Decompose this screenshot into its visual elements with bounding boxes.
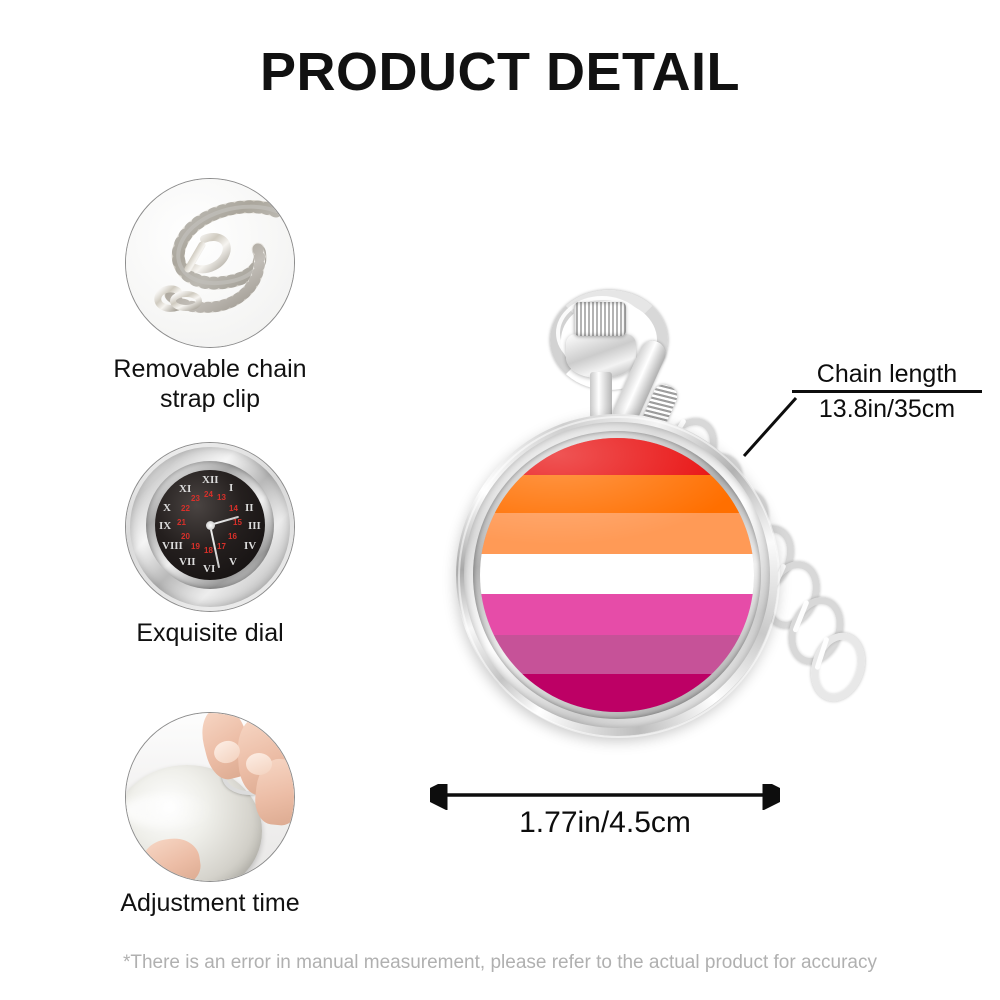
dial-numeral-ii: II — [245, 502, 254, 514]
dial-numeral-viii: VIII — [162, 540, 183, 552]
crown-knurl — [574, 302, 626, 336]
chain-length-leader-line — [742, 396, 798, 458]
chain-with-clip-icon — [126, 179, 294, 347]
dial-24h-23: 23 — [191, 494, 200, 503]
dial-numeral-xi: XI — [179, 483, 191, 495]
flag-stripe-dusty-pink — [480, 635, 754, 673]
dial-numeral-iii: III — [248, 520, 261, 532]
dial-24h-21: 21 — [177, 518, 186, 527]
hands-pin — [206, 521, 215, 530]
flag-stripe-pink — [480, 594, 754, 635]
dial-numeral-vi: VI — [203, 563, 215, 575]
measurement-disclaimer: *There is an error in manual measurement… — [0, 952, 1000, 974]
feature-adjustment-time: Adjustment time — [60, 712, 360, 918]
dial-24h-16: 16 — [228, 532, 237, 541]
dial-face: XII I II III IV V VI VII VIII IX X XI 13… — [155, 470, 265, 580]
flag-stripe-white — [480, 554, 754, 594]
dial-numeral-iv: IV — [244, 540, 256, 552]
hand-adjusting-crown-thumbnail — [125, 712, 295, 882]
watch-case — [456, 414, 778, 736]
chain-length-title: Chain length — [792, 360, 982, 389]
product-detail-page: PRODUCT DETAIL — [0, 0, 1000, 1000]
callout-chain-length: Chain length 13.8in/35cm — [792, 360, 982, 424]
dial-numeral-i: I — [229, 482, 233, 494]
feature-exquisite-dial: XII I II III IV V VI VII VIII IX X XI 13… — [60, 442, 360, 648]
dial-24h-15: 15 — [233, 518, 242, 527]
dial-24h-17: 17 — [217, 542, 226, 551]
chain-length-value: 13.8in/35cm — [792, 395, 982, 424]
dimension-diameter: 1.77in/4.5cm — [430, 778, 780, 852]
page-title: PRODUCT DETAIL — [0, 44, 1000, 101]
dial-numeral-vii: VII — [179, 556, 196, 568]
dial-24h-14: 14 — [229, 504, 238, 513]
dial-numeral-x: X — [163, 502, 171, 514]
diameter-value: 1.77in/4.5cm — [430, 806, 780, 840]
flag-stripe-orange — [480, 475, 754, 513]
product-image-pocket-watch — [430, 280, 990, 780]
watch-dial-thumbnail: XII I II III IV V VI VII VIII IX X XI 13… — [125, 442, 295, 612]
lesbian-pride-flag-face — [480, 438, 754, 712]
chain-length-underline — [792, 390, 982, 393]
dial-numeral-v: V — [229, 556, 237, 568]
dial-24h-20: 20 — [181, 532, 190, 541]
feature-removable-chain-strap-clip: Removable chain strap clip — [60, 178, 360, 414]
dial-24h-19: 19 — [191, 542, 200, 551]
dial-24h-13: 13 — [217, 493, 226, 502]
feature-label: Removable chain strap clip — [60, 354, 360, 414]
flag-stripe-light-orange — [480, 513, 754, 554]
dial-numeral-ix: IX — [159, 520, 171, 532]
fingernail — [246, 753, 272, 775]
feature-label: Adjustment time — [60, 888, 360, 918]
crown-stem — [590, 372, 612, 418]
dial-24h-18: 18 — [204, 546, 213, 555]
dial-numeral-xii: XII — [202, 474, 219, 486]
feature-label: Exquisite dial — [60, 618, 360, 648]
chain-with-clip-thumbnail — [125, 178, 295, 348]
dial-24h-24: 24 — [204, 490, 213, 499]
dial-24h-22: 22 — [181, 504, 190, 513]
